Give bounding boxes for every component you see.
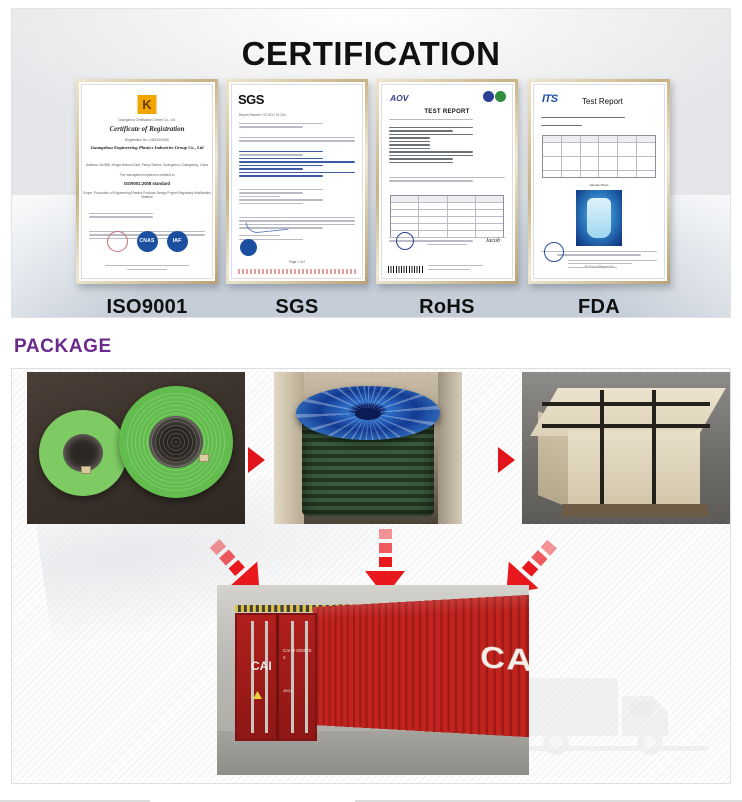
container-lock-bar (305, 621, 308, 733)
its-section-label-line (541, 125, 657, 128)
package-step-image-spool[interactable] (274, 372, 462, 524)
its-report-title: Test Report (582, 97, 623, 106)
crate-strap (542, 424, 710, 428)
rohs-stamp-icon (396, 232, 414, 250)
step-arrow-icon-2 (498, 447, 515, 473)
sgs-field-lines (239, 151, 355, 179)
certificate-mat: AOV TEST REPORT (379, 82, 515, 281)
rohs-signature-icon: Jacob (486, 238, 500, 244)
certificate-frame: SGS Report Number: GZ 2017 01 234 (226, 79, 368, 284)
certificate-card-sgs[interactable]: SGS Report Number: GZ 2017 01 234 (226, 79, 368, 318)
cnas-seal-icon: CNAS (137, 231, 158, 252)
container-doors: CAI CAI U 825076 2 45G1 (235, 613, 317, 741)
sgs-page-footer: Page 1 of 2 (232, 260, 362, 264)
certificate-card-fda[interactable]: ITS Test Report (528, 79, 670, 318)
certificate-document-fda: ITS Test Report (533, 84, 665, 279)
sgs-body-lines (239, 189, 355, 206)
photo-coiled-hose (27, 372, 245, 524)
crate-strap (600, 390, 604, 510)
seal-red-icon (107, 231, 128, 252)
certificate-frame: AOV TEST REPORT (376, 79, 518, 284)
iso-reg-no: Registration No.: 04814200400 (82, 138, 212, 142)
rohs-badge-icon (483, 91, 506, 102)
crate-strap (542, 402, 710, 406)
iso-standard: ISO9001:2008 standard (82, 181, 212, 186)
table-row (543, 171, 655, 177)
sgs-head-lines (239, 123, 355, 130)
iso-headline: Certificate of Registration (82, 125, 212, 133)
table-row (391, 217, 503, 224)
certificate-document-iso9001: K Guangzhou Certification Center Co., Lt… (81, 84, 213, 279)
table-row (391, 203, 503, 210)
container-lock-bar (251, 621, 254, 733)
iso-footer-lines (89, 265, 205, 272)
its-meta-lines (541, 117, 657, 120)
photo-wooden-crates (522, 372, 731, 524)
iso-brand-icon: K (138, 95, 157, 114)
certificate-card-iso9001[interactable]: K Guangzhou Certification Center Co., Lt… (76, 79, 218, 318)
pallet-base (562, 504, 708, 517)
photo-hose-on-spool (274, 372, 462, 524)
spool-hub (355, 408, 381, 420)
crate-top-panel (530, 388, 726, 436)
container-door-split (276, 615, 279, 739)
package-section: CAI CAI CAI U 825076 2 45G1 (11, 368, 731, 784)
table-row (391, 210, 503, 217)
carton-left-flap (274, 372, 304, 524)
certificate-mat: SGS Report Number: GZ 2017 01 234 (229, 82, 365, 281)
package-heading: PACKAGE (14, 336, 112, 358)
container-brand-mark: CAI (480, 639, 529, 681)
step-arrow-icon-1 (248, 447, 265, 473)
iso-accreditation-seals: CNAS IAF (82, 231, 212, 252)
package-steps-row (16, 372, 728, 524)
certification-title: CERTIFICATION (12, 35, 730, 73)
certificate-label-sgs: SGS (226, 296, 368, 318)
container-type-code: 45G1 (283, 687, 293, 694)
certificate-card-rohs[interactable]: AOV TEST REPORT (376, 79, 518, 318)
sgs-stamp-icon (240, 239, 257, 256)
container-door-brand: CAI (251, 659, 272, 673)
table-header-row (543, 136, 655, 143)
its-brand-icon: ITS (542, 93, 558, 105)
certificate-label-iso9001: ISO9001 (76, 296, 218, 318)
sgs-footer-bar (238, 269, 356, 274)
barcode-icon (388, 266, 424, 273)
crate-strap (652, 390, 656, 510)
package-step-image-coiled-hose[interactable] (27, 372, 245, 524)
hose-coil-large (119, 386, 233, 498)
iso-scope: Scope: Production of Engineering Plastic… (82, 191, 212, 199)
certificate-frame: ITS Test Report (528, 79, 670, 284)
table-row (543, 157, 655, 171)
certificate-frame: K Guangzhou Certification Center Co., Lt… (76, 79, 218, 284)
rohs-footer-lines (428, 265, 505, 272)
rohs-summary-lines (389, 177, 505, 184)
certificate-label-fda: FDA (528, 296, 670, 318)
certificate-document-sgs: SGS Report Number: GZ 2017 01 234 (231, 84, 363, 279)
certificate-mat: K Guangzhou Certification Center Co., Lt… (79, 82, 215, 281)
crate-front-panel (568, 430, 700, 508)
rohs-report-title: TEST REPORT (382, 109, 512, 115)
shipping-area: CAI CAI CAI U 825076 2 45G1 (12, 527, 731, 783)
container-lock-bar (265, 621, 268, 733)
iso-address: Address: No.888, Xingye Avenue East, Pan… (82, 163, 212, 167)
rohs-field-lines (389, 127, 505, 165)
rohs-meta-lines (389, 119, 505, 122)
warning-triangle-icon (253, 691, 262, 699)
hose-coil-small (39, 410, 127, 496)
sgs-intro-lines (239, 137, 355, 144)
sgs-brand-icon: SGS (238, 92, 264, 107)
container-body: CAI CAI CAI U 825076 2 45G1 (225, 603, 517, 745)
sgs-report-number: Report Number: GZ 2017 01 234 (239, 113, 362, 117)
its-footer-lines (568, 260, 657, 270)
certificate-document-rohs: AOV TEST REPORT (381, 84, 513, 279)
carton-right-flap (438, 372, 462, 524)
product-detail-page: CERTIFICATION K Guangzhou Certification … (0, 0, 742, 802)
table-header-row (391, 196, 503, 203)
iso-date-lines (89, 213, 205, 220)
sgs-signature-lines (239, 235, 355, 242)
container-lock-bar (291, 621, 294, 733)
iso-scope-intro: The management system is certified to (82, 173, 212, 177)
certification-section: CERTIFICATION K Guangzhou Certification … (11, 8, 731, 318)
container-side-wall: CAI (313, 593, 529, 739)
container-code: CAI U 825076 2 (283, 647, 315, 661)
package-shipping-container-image[interactable]: CAI CAI CAI U 825076 2 45G1 (217, 585, 529, 775)
iso-issuer-line: Guangzhou Certification Center Co., Ltd. (82, 118, 212, 122)
certification-list: K Guangzhou Certification Center Co., Lt… (12, 79, 730, 318)
sample-photo (576, 190, 622, 246)
its-results-table (542, 135, 656, 178)
its-photo-caption: Sample Photo (534, 183, 664, 187)
package-step-image-crates[interactable] (522, 372, 731, 524)
table-row (543, 143, 655, 157)
aov-brand-icon: AOV (390, 93, 408, 103)
certificate-mat: ITS Test Report (531, 82, 667, 281)
iaf-seal-icon: IAF (167, 231, 188, 252)
table-row (391, 224, 503, 231)
its-stamp-icon (544, 242, 564, 262)
iso-company-name: Guangzhou Engineering Plastics Industrie… (82, 145, 212, 152)
certificate-label-rohs: RoHS (376, 296, 518, 318)
